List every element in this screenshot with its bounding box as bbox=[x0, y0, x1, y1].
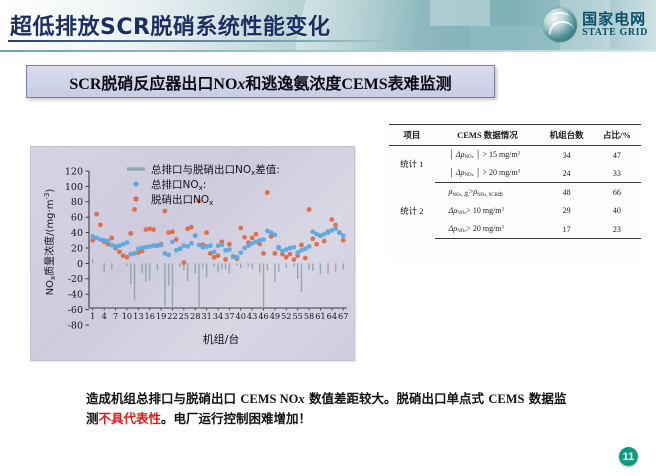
scatter-plot-svg: 120100806040200-20-40-60-80 147101316192… bbox=[31, 147, 354, 360]
y-axis-ticks: 120100806040200-20-40-60-80 bbox=[65, 166, 89, 331]
title-underline bbox=[8, 40, 398, 42]
x-axis-label: 机组/台 bbox=[203, 332, 240, 346]
legend-marker-scr bbox=[133, 196, 138, 201]
header-stripe-b bbox=[430, 0, 490, 26]
svg-text:1: 1 bbox=[90, 311, 95, 321]
subtitle-banner: SCR脱硝反应器出口NOx和逃逸氨浓度CEMS表难监测 bbox=[26, 65, 495, 98]
cell-units-3: 48 bbox=[540, 183, 593, 202]
cell-group1-label: 统计 1 bbox=[389, 146, 435, 183]
logo-name-en: STATE GRID bbox=[582, 28, 648, 38]
svg-text:34: 34 bbox=[213, 311, 223, 321]
legend-label-diff: 总排口与脱硝出口NOx差值: bbox=[151, 163, 280, 177]
statistics-table: 项目 CEMS 数据情况 机组台数 占比/% 统计 1 │ ΔρNOx │ > … bbox=[389, 124, 641, 239]
svg-text:55: 55 bbox=[292, 311, 302, 321]
cell-units-4: 29 bbox=[540, 202, 593, 220]
header-rule bbox=[0, 50, 656, 52]
legend-label-scr: 脱硝出口NOx bbox=[151, 193, 213, 207]
conclusion-part-4: 数值差距较大。脱硝出口单点式 bbox=[305, 391, 489, 406]
svg-text:46: 46 bbox=[258, 311, 268, 321]
legend-label-total: 总排口NOx: bbox=[151, 178, 206, 192]
svg-text:22: 22 bbox=[167, 311, 177, 321]
svg-text:49: 49 bbox=[270, 311, 280, 321]
logo-name-cn: 国家电网 bbox=[582, 12, 648, 27]
cell-group2-label: 统计 2 bbox=[389, 183, 435, 239]
col-item: 项目 bbox=[389, 125, 435, 146]
svg-text:120: 120 bbox=[65, 166, 83, 177]
statistics-table-wrap: 项目 CEMS 数据情况 机组台数 占比/% 统计 1 │ ΔρNOx │ > … bbox=[389, 124, 641, 259]
globe-icon bbox=[543, 8, 577, 42]
conclusion-part-8: 。电厂运行控制困难增加！ bbox=[161, 411, 311, 426]
svg-text:58: 58 bbox=[304, 311, 314, 321]
svg-text:-40: -40 bbox=[68, 290, 83, 301]
svg-text:-20: -20 bbox=[68, 274, 83, 285]
svg-text:20: 20 bbox=[71, 243, 83, 254]
cell-units-2: 24 bbox=[540, 164, 593, 183]
svg-text:25: 25 bbox=[179, 311, 189, 321]
subtitle-text: SCR脱硝反应器出口NOx和逃逸氨浓度CEMS表难监测 bbox=[69, 70, 451, 94]
cell-condition-1: │ ΔρNOx │ > 15 mg/m3 bbox=[435, 146, 541, 165]
cell-units-1: 34 bbox=[540, 146, 593, 165]
conclusion-highlight: 不具代表性 bbox=[99, 411, 162, 426]
svg-text:40: 40 bbox=[71, 228, 83, 239]
page-title: 超低排放SCR脱硝系统性能变化 bbox=[10, 9, 330, 41]
svg-text:37: 37 bbox=[224, 311, 234, 321]
legend-marker-total bbox=[133, 181, 138, 186]
svg-text:7: 7 bbox=[113, 311, 118, 321]
cell-condition-5: ΔρNOx> 20 mg/m3 bbox=[435, 220, 541, 239]
svg-text:10: 10 bbox=[122, 311, 132, 321]
conclusion-text: 造成机组总排口与脱硝出口 CEMS NOx 数值差距较大。脱硝出口单点式 CEM… bbox=[86, 389, 572, 429]
cell-percent-4: 40 bbox=[593, 202, 641, 220]
svg-text:43: 43 bbox=[247, 311, 257, 321]
conclusion-part-6: 数 bbox=[524, 391, 541, 406]
conclusion-part-1: 造成机组总排口与脱硝出口 bbox=[86, 391, 240, 406]
svg-text:0: 0 bbox=[77, 259, 83, 270]
cell-percent-1: 47 bbox=[593, 146, 641, 165]
cell-condition-4: ΔρNOx> 10 mg/m3 bbox=[435, 202, 541, 220]
svg-text:52: 52 bbox=[281, 311, 291, 321]
svg-text:19: 19 bbox=[156, 311, 166, 321]
col-percent: 占比/% bbox=[593, 125, 641, 146]
x-axis-ticks: 1471013161922252831343740434649525558616… bbox=[90, 308, 348, 321]
col-units: 机组台数 bbox=[540, 125, 593, 146]
svg-text:16: 16 bbox=[144, 311, 154, 321]
page-number-badge: 11 bbox=[619, 447, 638, 466]
svg-text:-60: -60 bbox=[68, 305, 83, 316]
state-grid-logo: 国家电网 STATE GRID bbox=[543, 4, 648, 46]
svg-text:60: 60 bbox=[71, 213, 83, 224]
cell-units-5: 17 bbox=[540, 220, 593, 239]
chart-legend: 总排口与脱硝出口NOx差值: 总排口NOx: 脱硝出口NOx bbox=[127, 163, 280, 207]
cell-condition-2: │ ΔρNOx │ > 20 mg/m3 bbox=[435, 164, 541, 183]
chart-canvas: 120100806040200-20-40-60-80 147101316192… bbox=[31, 147, 354, 360]
conclusion-part-5: CEMS bbox=[488, 392, 524, 406]
svg-text:-80: -80 bbox=[68, 320, 83, 331]
col-condition: CEMS 数据情况 bbox=[435, 125, 541, 146]
svg-text:28: 28 bbox=[190, 311, 200, 321]
cell-percent-2: 33 bbox=[593, 164, 641, 183]
logo-text-block: 国家电网 STATE GRID bbox=[582, 12, 648, 38]
svg-text:13: 13 bbox=[133, 311, 143, 321]
cell-percent-3: 66 bbox=[593, 183, 641, 202]
svg-text:100: 100 bbox=[65, 182, 83, 193]
svg-text:64: 64 bbox=[327, 311, 337, 321]
table-header-row: 项目 CEMS 数据情况 机组台数 占比/% bbox=[389, 125, 641, 146]
cell-percent-5: 23 bbox=[593, 220, 641, 239]
svg-text:4: 4 bbox=[102, 311, 107, 321]
svg-text:80: 80 bbox=[71, 197, 83, 208]
svg-text:40: 40 bbox=[236, 311, 246, 321]
y-axis-label: NOx质量浓度/(mg·m-3) bbox=[43, 189, 57, 296]
svg-text:31: 31 bbox=[201, 311, 211, 321]
svg-text:61: 61 bbox=[315, 311, 325, 321]
table-head: 项目 CEMS 数据情况 机组台数 占比/% bbox=[389, 125, 641, 146]
table-row: 统计 2 ρNOx, 总>ρNOx, SCR出 48 66 bbox=[389, 183, 641, 202]
chart-figure: 120100806040200-20-40-60-80 147101316192… bbox=[30, 146, 355, 361]
table-row: 统计 1 │ ΔρNOx │ > 15 mg/m3 34 47 bbox=[389, 146, 641, 165]
svg-text:67: 67 bbox=[338, 311, 348, 321]
cell-condition-3: ρNOx, 总>ρNOx, SCR出 bbox=[435, 183, 541, 202]
conclusion-part-2: CEMS NO bbox=[240, 392, 298, 406]
table-body: 统计 1 │ ΔρNOx │ > 15 mg/m3 34 47 │ ΔρNOx … bbox=[389, 146, 641, 239]
